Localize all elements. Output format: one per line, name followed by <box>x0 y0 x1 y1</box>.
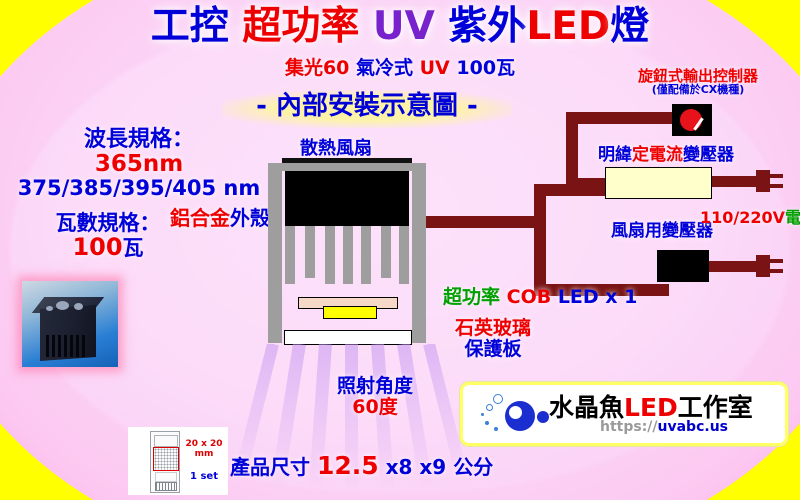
knob-pointer-icon <box>693 117 703 130</box>
wavelength-spec: 波長規格： 365nm 375/385/395/405 nm <box>14 128 264 199</box>
product-size-label: 產品尺寸 12.5 x8 x9 公分 <box>230 452 493 479</box>
knob-controller-module[interactable] <box>672 104 712 136</box>
brand-url[interactable]: https://uvabc.us <box>549 419 779 435</box>
quartz-glass-line-1: 石英玻璃 <box>455 318 531 339</box>
case-right-wall <box>412 163 426 343</box>
brand-url-host: uvabc.us <box>658 419 728 435</box>
case-top-plate <box>268 163 426 171</box>
quartz-glass-label: 石英玻璃 保護板 <box>455 318 531 359</box>
wire-knob-horizontal <box>566 112 678 124</box>
heatsink-fin <box>343 226 353 284</box>
heatsink-fin <box>285 226 295 284</box>
wire-distribution-bus <box>534 184 546 296</box>
size-primary-value: 12.5 <box>317 451 379 480</box>
cob-label-mid: COB <box>500 286 558 308</box>
photo-vent-slot <box>52 335 55 357</box>
aluminium-case-label: 鋁合金外殼 <box>170 208 270 230</box>
size-icon-dimension-line-1: 20 x 20 <box>182 439 226 449</box>
constant-current-driver-box <box>605 167 712 199</box>
cob-led-label: 超功率 COB LED x 1 <box>443 287 637 308</box>
size-icon-bottom-block <box>155 482 177 491</box>
ac-plug-fan-supply <box>756 255 790 279</box>
diagram-caption: - 內部安裝示意圖 - <box>222 92 512 120</box>
driver-label: 明緯定電流變壓器 <box>598 146 734 164</box>
fan-power-supply-label: 風扇用變壓器 <box>611 222 713 240</box>
plug-pin <box>769 184 783 188</box>
plug-body <box>756 255 770 277</box>
case-left-wall <box>268 163 282 343</box>
subtitle-seg-4: 100瓦 <box>450 57 515 79</box>
heatsink-fin <box>305 226 315 278</box>
size-icon-dimension-line-2: mm <box>182 449 226 459</box>
plug-body <box>756 170 770 192</box>
wire-fanps-to-plug <box>708 261 756 272</box>
quartz-glass-plate <box>284 330 412 345</box>
wire-driver-to-plug <box>709 176 757 187</box>
bubble-dot <box>494 427 498 431</box>
plug-pin <box>769 259 783 263</box>
page-title: 工控 超功率 UV 紫外LED燈 <box>0 6 800 48</box>
knob-controller-label: 旋鈕式輸出控制器 (僅配備於CX機種) <box>598 68 798 96</box>
beam-angle-label: 照射角度 60度 <box>315 376 435 417</box>
subtitle-seg-1: 集光60 <box>285 57 349 79</box>
photo-vent-slot <box>70 335 73 357</box>
ac-plug-driver <box>756 170 790 194</box>
bubble-dot <box>485 421 489 425</box>
brand-logo[interactable]: 水晶魚LED工作室 https://uvabc.us <box>460 382 788 446</box>
photo-vent-slot <box>76 335 79 357</box>
title-seg-2: 超功率 <box>242 4 359 49</box>
cooling-fan-block <box>285 171 409 226</box>
heatsink-fin <box>361 226 371 284</box>
product-photo <box>22 281 118 367</box>
size-icon-led-array <box>153 447 179 471</box>
size-icon-set-count: 1 set <box>182 471 226 482</box>
photo-vent-slot <box>82 335 85 357</box>
size-unit: 公分 <box>453 455 493 479</box>
size-label-text: 產品尺寸 <box>230 455 310 479</box>
quartz-glass-line-2: 保護板 <box>455 339 531 360</box>
voltage-unit: 電力 <box>785 208 800 227</box>
lamp-assembly-diagram <box>268 158 426 343</box>
plug-pin <box>769 174 783 178</box>
brand-name-led: LED <box>624 393 678 422</box>
heatsink-fin <box>325 226 335 284</box>
heatsink-fin <box>381 226 391 278</box>
size-icon-top-block <box>154 435 178 447</box>
driver-label-brand: 明緯 <box>598 145 632 165</box>
led-module-size-icon: 20 x 20 mm 1 set <box>128 427 228 495</box>
title-seg-3: UV <box>359 4 448 49</box>
photo-fan-hub <box>74 303 83 310</box>
brand-name-studio: 工作室 <box>678 393 753 422</box>
photo-vent-slot <box>46 335 49 357</box>
title-seg-1: 工控 <box>151 4 243 49</box>
beam-angle-title: 照射角度 <box>315 376 435 397</box>
title-seg-6: 燈 <box>610 4 649 49</box>
size-icon-unit-drawing <box>150 431 180 493</box>
cob-led-chip <box>323 306 377 319</box>
subtitle-seg-2: 氣冷式 <box>349 57 419 79</box>
wattage-unit: 瓦 <box>123 236 144 260</box>
fan-power-supply-box <box>657 250 709 282</box>
poster-canvas: 工控 超功率 UV 紫外LED燈 集光60 氣冷式 UV 100瓦 - 內部安裝… <box>0 0 800 500</box>
wavelength-primary: 365nm <box>14 152 264 177</box>
cob-label-prefix: 超功率 <box>443 286 500 308</box>
photo-vent-slot <box>58 335 61 357</box>
beam-angle-value: 60度 <box>315 397 435 418</box>
cooling-fan-label: 散熱風扇 <box>300 139 372 158</box>
voltage-value: 110/220V <box>700 208 785 227</box>
bubble-eye <box>509 406 522 419</box>
wavelength-title: 波長規格： <box>14 128 264 152</box>
photo-vent-slot <box>64 335 67 357</box>
photo-connector <box>46 306 53 311</box>
driver-label-type: 定電流 <box>632 145 683 165</box>
size-icon-dimension: 20 x 20 mm <box>182 439 226 460</box>
size-icon-mid-block <box>155 472 177 482</box>
voltage-label: 110/220V電力 <box>700 209 800 226</box>
brand-name-cn: 水晶魚 <box>549 393 624 422</box>
driver-label-device: 變壓器 <box>683 145 734 165</box>
wavelength-options: 375/385/395/405 nm <box>14 177 264 200</box>
plug-pin <box>769 269 783 273</box>
heatsink-fins <box>285 226 409 284</box>
cob-label-suffix: LED x 1 <box>558 286 638 308</box>
knob-dial[interactable] <box>680 109 702 131</box>
fish-bubble-icon <box>471 389 549 439</box>
subtitle-seg-3: UV <box>420 57 450 79</box>
bubble-small <box>537 411 549 423</box>
wire-lamp-trunk <box>426 216 534 228</box>
size-rest-value: x8 x9 <box>386 455 447 479</box>
title-seg-4: 紫外 <box>448 4 526 49</box>
knob-controller-note: (僅配備於CX機種) <box>598 84 798 96</box>
knob-controller-title: 旋鈕式輸出控制器 <box>598 68 798 84</box>
bubble-outline-small <box>486 404 493 411</box>
heatsink-fin <box>399 226 409 284</box>
photo-fan-hub <box>56 301 69 310</box>
brand-url-scheme: https:// <box>600 419 658 435</box>
title-seg-5: LED <box>526 4 610 49</box>
bubble-dot <box>481 413 484 416</box>
bubble-outline-medium <box>493 394 503 404</box>
wattage-value: 100 <box>72 233 122 261</box>
